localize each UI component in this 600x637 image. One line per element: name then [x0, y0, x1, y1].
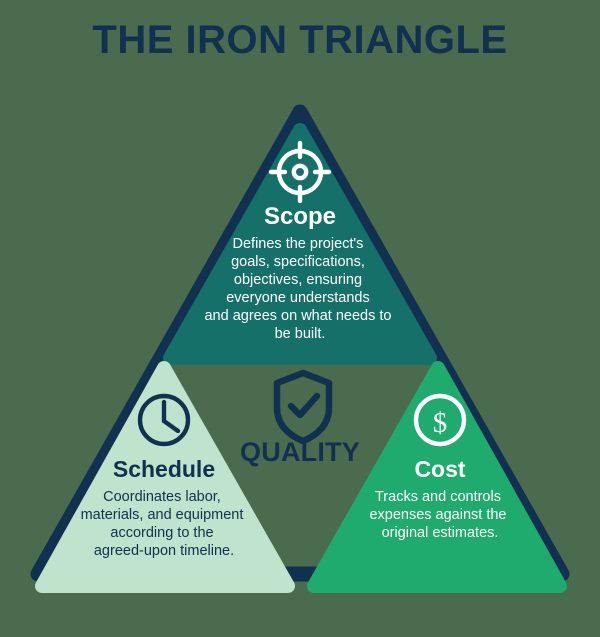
quality-label: QUALITY — [0, 437, 600, 468]
scope-title: Scope — [264, 203, 336, 230]
cost-body: Tracks and controls expenses against the… — [369, 489, 510, 541]
iron-triangle-infographic: THE IRON TRIANGLE Scope Defines the proj… — [0, 0, 600, 637]
segment-scope[interactable]: Scope Defines the project's goals, speci… — [170, 130, 430, 358]
shield-check-icon — [277, 373, 329, 441]
segment-schedule[interactable]: Schedule Coordinates labor, materials, a… — [42, 368, 288, 586]
triangle-diagram: Scope Defines the project's goals, speci… — [0, 0, 600, 637]
svg-text:$: $ — [433, 407, 448, 439]
segment-cost[interactable]: $ Cost Tracks and controls expenses agai… — [314, 368, 560, 586]
